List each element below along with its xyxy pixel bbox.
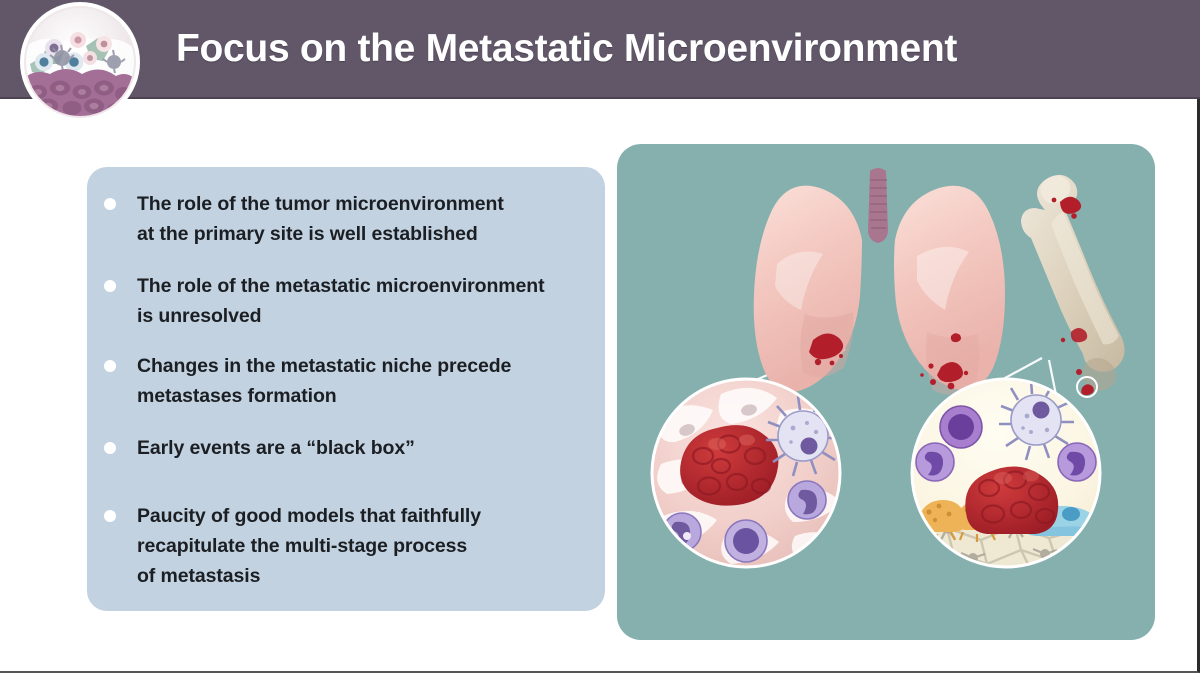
slide-header: Focus on the Metastatic Microenvironment — [0, 0, 1200, 99]
monocyte-cell — [788, 481, 826, 519]
bullet-list-panel: The role of the tumor microenvironment a… — [87, 167, 605, 611]
lung-microenvironment-inset — [651, 376, 841, 568]
list-item-label: Changes in the metastatic niche precede … — [137, 351, 511, 411]
metastasis-illustration-panel — [617, 144, 1155, 640]
list-item: The role of the tumor microenvironment a… — [104, 189, 504, 249]
slide-canvas: Focus on the Metastatic Microenvironment — [0, 0, 1200, 673]
bullet-dot-icon — [104, 510, 116, 522]
bullet-dot-icon — [104, 360, 116, 372]
monocyte-cell — [916, 443, 954, 481]
list-item: Changes in the metastatic niche precede … — [104, 351, 511, 411]
tumor-cell-cluster-icon — [24, 6, 136, 118]
list-item: The role of the metastatic microenvironm… — [104, 271, 544, 331]
list-item: Early events are a “black box” — [104, 433, 415, 463]
macrophage-cell — [663, 513, 701, 551]
bone-illustration — [1021, 175, 1125, 397]
bullet-dot-icon — [104, 442, 116, 454]
list-item-label: Paucity of good models that faithfully r… — [137, 501, 481, 591]
bullet-dot-icon — [104, 198, 116, 210]
bullet-dot-icon — [104, 280, 116, 292]
list-item-label: Early events are a “black box” — [137, 433, 415, 463]
monocyte-cell — [1058, 443, 1096, 481]
lymphocyte-cell — [725, 520, 767, 562]
bone-microenvironment-inset — [911, 378, 1101, 579]
list-item-label: The role of the tumor microenvironment a… — [137, 189, 504, 249]
list-item-label: The role of the metastatic microenvironm… — [137, 271, 544, 331]
page-title: Focus on the Metastatic Microenvironment — [176, 27, 957, 71]
lymphocyte-cell — [940, 406, 982, 448]
list-item: Paucity of good models that faithfully r… — [104, 501, 481, 591]
